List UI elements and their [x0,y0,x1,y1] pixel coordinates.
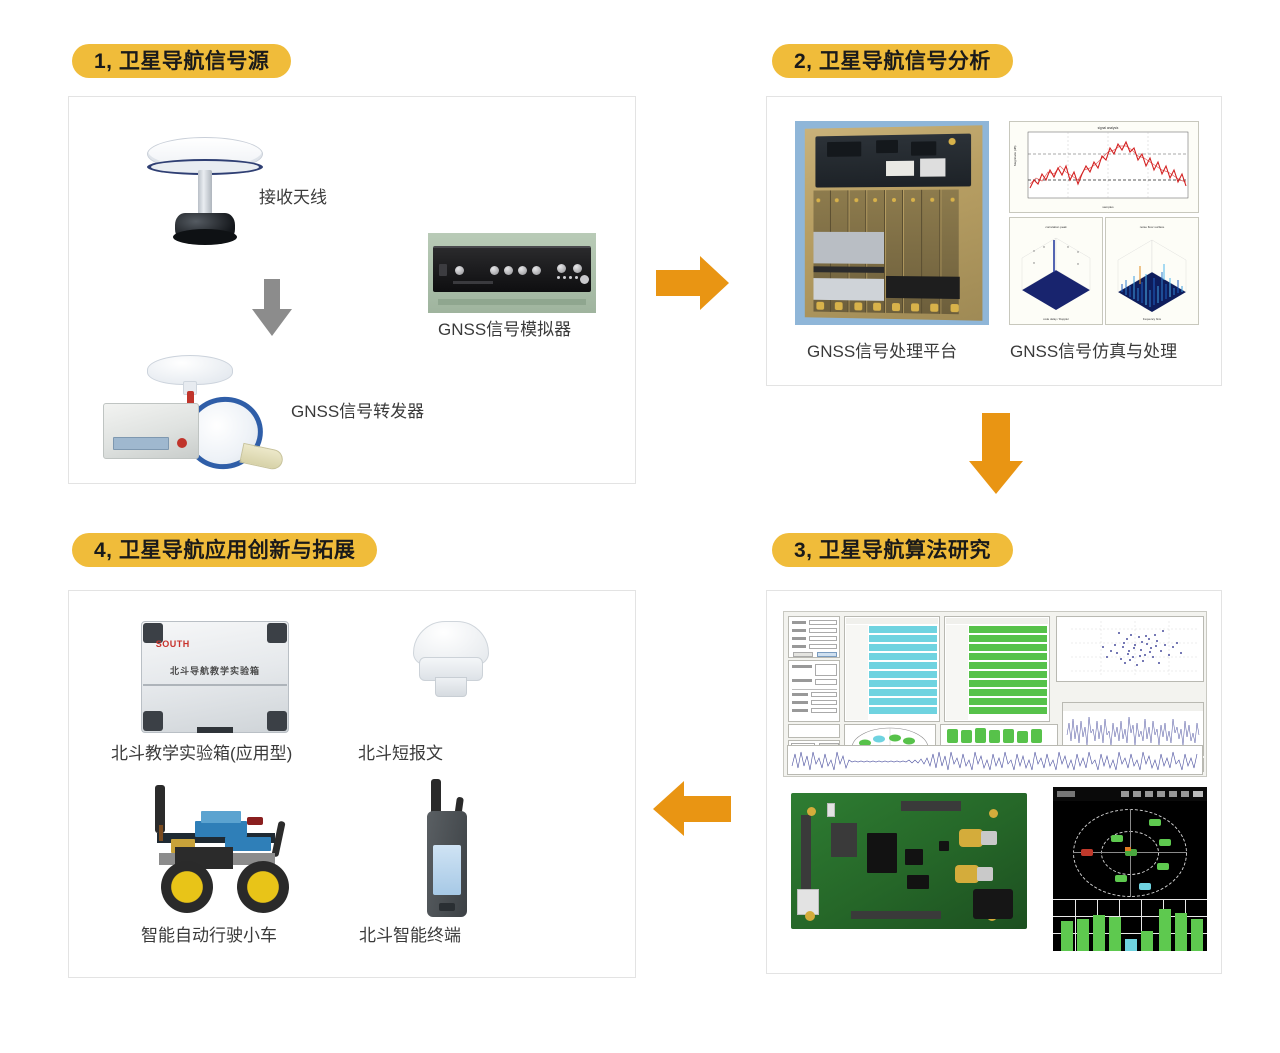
svg-text:correlation peak: correlation peak [1045,225,1067,229]
flow-diagram-canvas: 1, 卫星导航信号源 [0,0,1280,1053]
panel-application-innovation: SOUTH 北斗导航教学实验箱 [68,590,636,978]
arrow-down-2-to-3 [968,413,1024,495]
caption-gnss-processing-platform: GNSS信号处理平台 [807,337,957,362]
panel-signal-analysis: signal analysis Magnitude (dB) samples c… [766,96,1222,386]
case-brand-label: SOUTH [156,639,190,649]
caption-autonomous-car: 智能自动行驶小车 [141,921,277,946]
arrow-left-3-to-4 [652,780,732,838]
beidou-smart-terminal-photo [419,779,481,919]
svg-text:code delay / Doppler: code delay / Doppler [1043,317,1069,321]
autonomous-car-photo [129,781,309,917]
gnss-processing-board-photo [795,121,989,325]
svg-text:signal analysis: signal analysis [1098,126,1119,130]
gnss-simulation-plots-photo: signal analysis Magnitude (dB) samples c… [1009,121,1199,325]
caption-receiving-antenna: 接收天线 [259,183,327,208]
panel-algorithm-research [766,590,1222,974]
section-badge-4: 4, 卫星导航应用创新与拓展 [72,533,377,567]
section-badge-1: 1, 卫星导航信号源 [72,44,291,78]
panel-signal-source: 接收天线 GNSS信号模拟器 GNSS信号转发器 [68,96,636,484]
svg-text:Magnitude (dB): Magnitude (dB) [1013,145,1017,166]
section-badge-3-label: 3, 卫星导航算法研究 [794,540,991,561]
wide-waveform-strip [787,745,1203,775]
section-badge-2-label: 2, 卫星导航信号分析 [794,51,991,72]
section-badge-4-label: 4, 卫星导航应用创新与拓展 [94,540,355,561]
skyplot-screen-photo [1053,787,1207,951]
caption-short-message: 北斗短报文 [358,739,443,764]
gnss-signal-repeater-photo [103,355,288,473]
svg-text:samples: samples [1102,205,1114,209]
receiving-antenna-photo [147,137,267,247]
algorithm-software-screenshot [783,611,1207,777]
arrow-down-antenna-to-repeater [251,279,293,337]
caption-smart-terminal: 北斗智能终端 [359,921,461,946]
case-text-label: 北斗导航教学实验箱 [141,664,289,677]
beidou-short-message-antenna-photo [401,621,501,707]
receiver-board-photo [783,787,1035,951]
caption-gnss-simulation-processing: GNSS信号仿真与处理 [1010,337,1177,362]
svg-text:frequency bins: frequency bins [1143,317,1162,321]
gnss-signal-simulator-photo [428,233,596,313]
section-badge-3: 3, 卫星导航算法研究 [772,533,1013,567]
section-badge-1-label: 1, 卫星导航信号源 [94,51,269,72]
teaching-case-photo: SOUTH 北斗导航教学实验箱 [141,621,289,733]
section-badge-2: 2, 卫星导航信号分析 [772,44,1013,78]
caption-teaching-case: 北斗教学实验箱(应用型) [111,739,292,764]
caption-gnss-simulator: GNSS信号模拟器 [438,315,571,340]
svg-text:noise floor surface: noise floor surface [1140,225,1165,229]
caption-gnss-repeater: GNSS信号转发器 [291,397,424,422]
arrow-right-1-to-2 [656,255,730,311]
